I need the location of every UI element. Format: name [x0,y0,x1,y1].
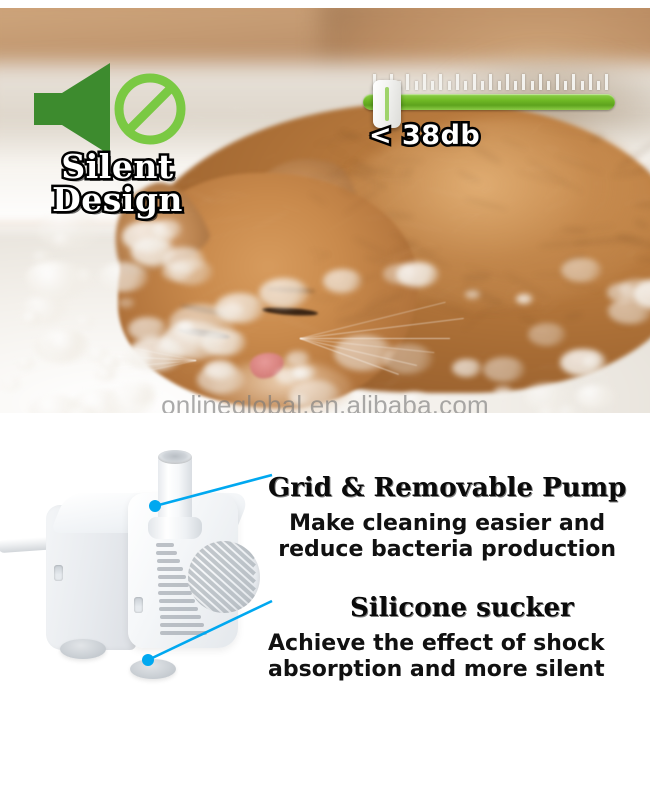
meter-tick [597,81,600,90]
pump-side-port-b [134,597,143,613]
callout-grid-body-line1: Make cleaning easier and [268,511,626,537]
callout-grid-body-line2: reduce bacteria production [268,537,626,563]
meter-tick [547,81,550,90]
product-detail-panel: Grid & Removable Pump Make cleaning easi… [0,413,650,800]
pump-vent-slot [158,575,186,579]
callout-grid-body: Make cleaning easier and reduce bacteria… [268,511,626,563]
pump-outlet-opening [158,450,192,464]
pump-suction-cup-rear [60,639,106,659]
meter-tick [481,81,484,90]
blanket-tuft-left [32,251,52,263]
meter-tick [506,74,509,90]
blanket-tuft [516,294,533,304]
blanket-tuft [286,351,310,365]
silent-label-line2: Design [52,180,183,219]
blanket-tuft [619,279,650,300]
meter-tick [439,74,442,90]
meter-tick [514,81,517,90]
water-pump-illustration [8,433,268,703]
blanket-tuft [452,359,481,377]
blanket-tuft [323,269,363,293]
meter-tick [589,74,592,90]
noise-level-meter: < 38db [363,68,618,163]
pump-suction-cup [130,659,176,679]
pump-outlet-collar [148,517,202,539]
pump-side-port-a [54,565,63,581]
meter-tick [581,81,584,90]
pump-vent-slot [158,591,192,595]
silent-design-badge: SilentDesign [30,58,190,228]
callout-sucker-body-line1: Achieve the effect of shock [268,631,605,657]
watermark-text: onlineglobal.en.alibaba.com [0,390,650,413]
meter-tick [473,74,476,90]
speaker-mute-icon [32,63,187,155]
meter-tick [605,74,608,90]
pump-vent-slot [156,551,177,555]
meter-tick [423,74,426,90]
meter-tick [564,81,567,90]
blanket-tuft [582,355,603,367]
silent-design-label: SilentDesign [30,150,205,216]
meter-tick [539,74,542,90]
blanket-tuft-left [162,247,205,274]
noise-level-label: < 38db [369,120,480,151]
callout-sucker-body: Achieve the effect of shock absorption a… [268,631,605,683]
meter-tick [522,74,525,90]
pump-removable-grid [188,541,260,613]
callout-sucker-title: Silicone sucker [350,593,605,623]
blanket-tuft [74,316,96,329]
pump-vent-slot [158,583,189,587]
meter-tick [556,74,559,90]
blanket-tuft [98,262,148,292]
meter-tick [498,81,501,90]
blanket-tuft-left [21,312,42,325]
product-lifestyle-photo: SilentDesign < 38db onlineglobal.en.alib… [0,8,650,413]
callout-grid-removable-pump: Grid & Removable Pump Make cleaning easi… [268,473,626,563]
meter-tick [415,81,418,90]
meter-tick [572,74,575,90]
meter-tick [431,81,434,90]
blanket-tuft-left [128,317,167,341]
meter-tick [531,81,534,90]
meter-tick [464,81,467,90]
meter-tick [489,74,492,90]
callout-silicone-sucker: Silicone sucker Achieve the effect of sh… [268,593,605,683]
pump-vent-slot [160,631,207,635]
meter-tick-marks [373,68,618,90]
pump-vent-slot [160,615,201,619]
meter-tick [406,74,409,90]
blanket-tuft-left [169,304,234,344]
pump-vent-slot [156,543,174,547]
blanket-tuft-left [17,358,35,369]
blanket-tuft [561,258,601,282]
pump-vent-slot [157,567,183,571]
callout-grid-title: Grid & Removable Pump [268,473,626,503]
blanket-tuft [100,357,122,370]
pump-vent-slot [157,559,180,563]
pump-vent-slot [160,623,204,627]
meter-tick [448,81,451,90]
meter-tick [456,74,459,90]
callout-sucker-body-line2: absorption and more silent [268,657,605,683]
blanket-tuft-left [0,377,22,391]
blanket-tuft-left [155,341,177,355]
blanket-tuft-left [27,262,90,301]
